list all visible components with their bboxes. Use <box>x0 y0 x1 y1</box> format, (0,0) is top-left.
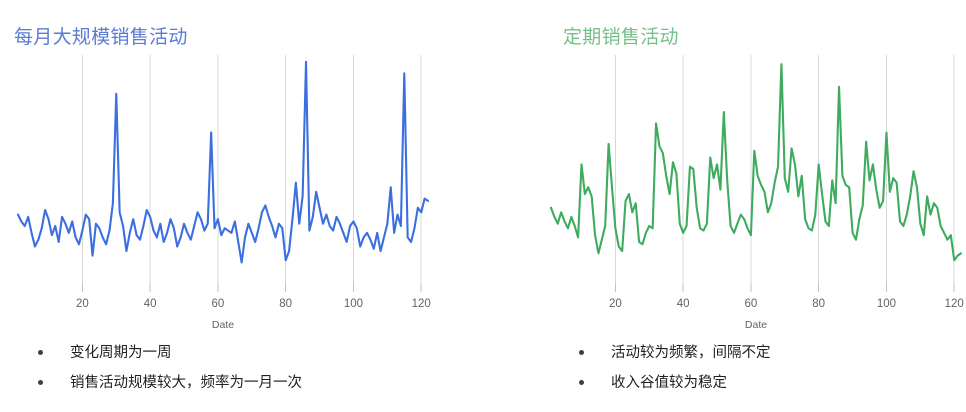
bullet-dot-icon <box>579 350 584 355</box>
bullet-item: 活动较为频繁，间隔不定 <box>571 338 771 368</box>
x-axis-tick-label: 100 <box>344 298 363 310</box>
chart-series-line <box>551 64 961 260</box>
line-chart-svg-right: 20406080100120Date <box>537 45 966 330</box>
bullet-text: 活动较为频繁，间隔不定 <box>611 345 771 361</box>
bullet-item: 销售活动规模较大，频率为一月一次 <box>30 368 302 398</box>
panel-regular-sales: 定期销售活动 20406080100120Date 活动较为频繁，间隔不定收入谷… <box>483 0 966 412</box>
line-chart-svg-left: 20406080100120Date <box>4 45 434 330</box>
bullet-list-right: 活动较为频繁，间隔不定收入谷值较为稳定 <box>571 338 771 398</box>
bullet-dot-icon <box>38 380 43 385</box>
bullet-dot-icon <box>38 350 43 355</box>
bullet-text: 变化周期为一周 <box>70 345 172 361</box>
chart-regular-sales: 20406080100120Date <box>537 45 966 330</box>
x-axis-tick-label: 120 <box>412 298 431 310</box>
panel-monthly-large-sales: 每月大规模销售活动 20406080100120Date 变化周期为一周销售活动… <box>0 0 483 412</box>
bullet-dot-icon <box>579 380 584 385</box>
bullet-list-left: 变化周期为一周销售活动规模较大，频率为一月一次 <box>30 338 302 398</box>
x-axis-tick-label: 100 <box>877 298 896 310</box>
x-axis-tick-label: 60 <box>212 298 225 310</box>
x-axis-tick-label: 80 <box>812 298 825 310</box>
x-axis-tick-label: 60 <box>745 298 758 310</box>
x-axis-tick-label: 80 <box>279 298 292 310</box>
x-axis-tick-label: 20 <box>609 298 622 310</box>
chart-monthly-large-sales: 20406080100120Date <box>4 45 434 330</box>
chart-series-line <box>18 62 428 263</box>
slide-root: 每月大规模销售活动 20406080100120Date 变化周期为一周销售活动… <box>0 0 966 412</box>
x-axis-tick-label: 20 <box>76 298 89 310</box>
x-axis-tick-label: 120 <box>945 298 964 310</box>
bullet-text: 销售活动规模较大，频率为一月一次 <box>70 375 302 391</box>
x-axis-tick-label: 40 <box>677 298 690 310</box>
bullet-item: 收入谷值较为稳定 <box>571 368 771 398</box>
x-axis-title: Date <box>212 319 234 331</box>
bullet-text: 收入谷值较为稳定 <box>611 375 727 391</box>
bullet-item: 变化周期为一周 <box>30 338 302 368</box>
x-axis-tick-label: 40 <box>144 298 157 310</box>
x-axis-title: Date <box>745 319 767 331</box>
